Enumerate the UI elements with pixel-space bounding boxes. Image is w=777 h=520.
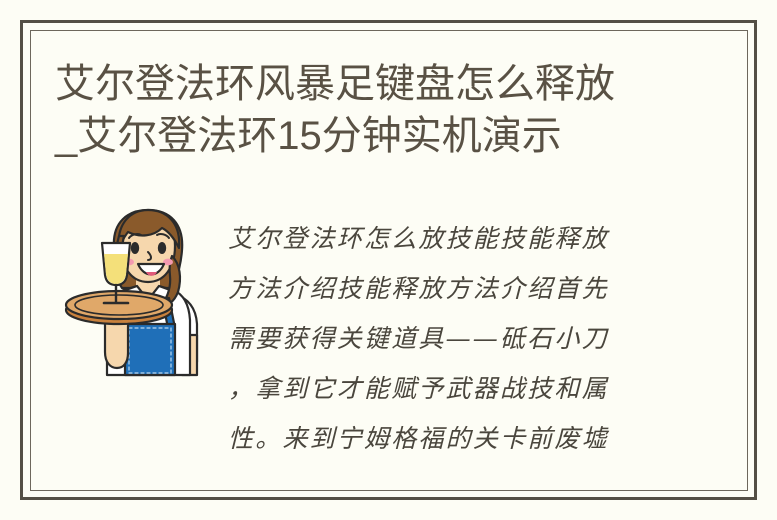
article-line: 艾尔登法环怎么放技能技能释放 xyxy=(228,214,648,264)
article-line: ，拿到它才能赋予武器战技和属 xyxy=(228,364,648,414)
page-title: 艾尔登法环风暴足键盘怎么释放 _艾尔登法环15分钟实机演示 xyxy=(55,58,715,162)
page-content: 艾尔登法环风暴足键盘怎么释放 _艾尔登法环15分钟实机演示 xyxy=(0,0,777,520)
page-title-line-2: _艾尔登法环15分钟实机演示 xyxy=(55,110,715,162)
article-line: 需要获得关键道具——砥石小刀 xyxy=(228,314,648,364)
article-line: 方法介绍技能释放方法介绍首先 xyxy=(228,264,648,314)
apron-body-shape xyxy=(125,324,175,375)
eye-right xyxy=(158,242,166,254)
eye-left xyxy=(131,242,139,254)
page-title-line-1: 艾尔登法环风暴足键盘怎么释放 xyxy=(55,58,715,110)
waitress-illustration xyxy=(62,202,212,377)
article-line: 性。来到宁姆格福的关卡前废墟 xyxy=(228,414,648,464)
article-body-text: 艾尔登法环怎么放技能技能释放 方法介绍技能释放方法介绍首先 需要获得关键道具——… xyxy=(228,214,648,464)
